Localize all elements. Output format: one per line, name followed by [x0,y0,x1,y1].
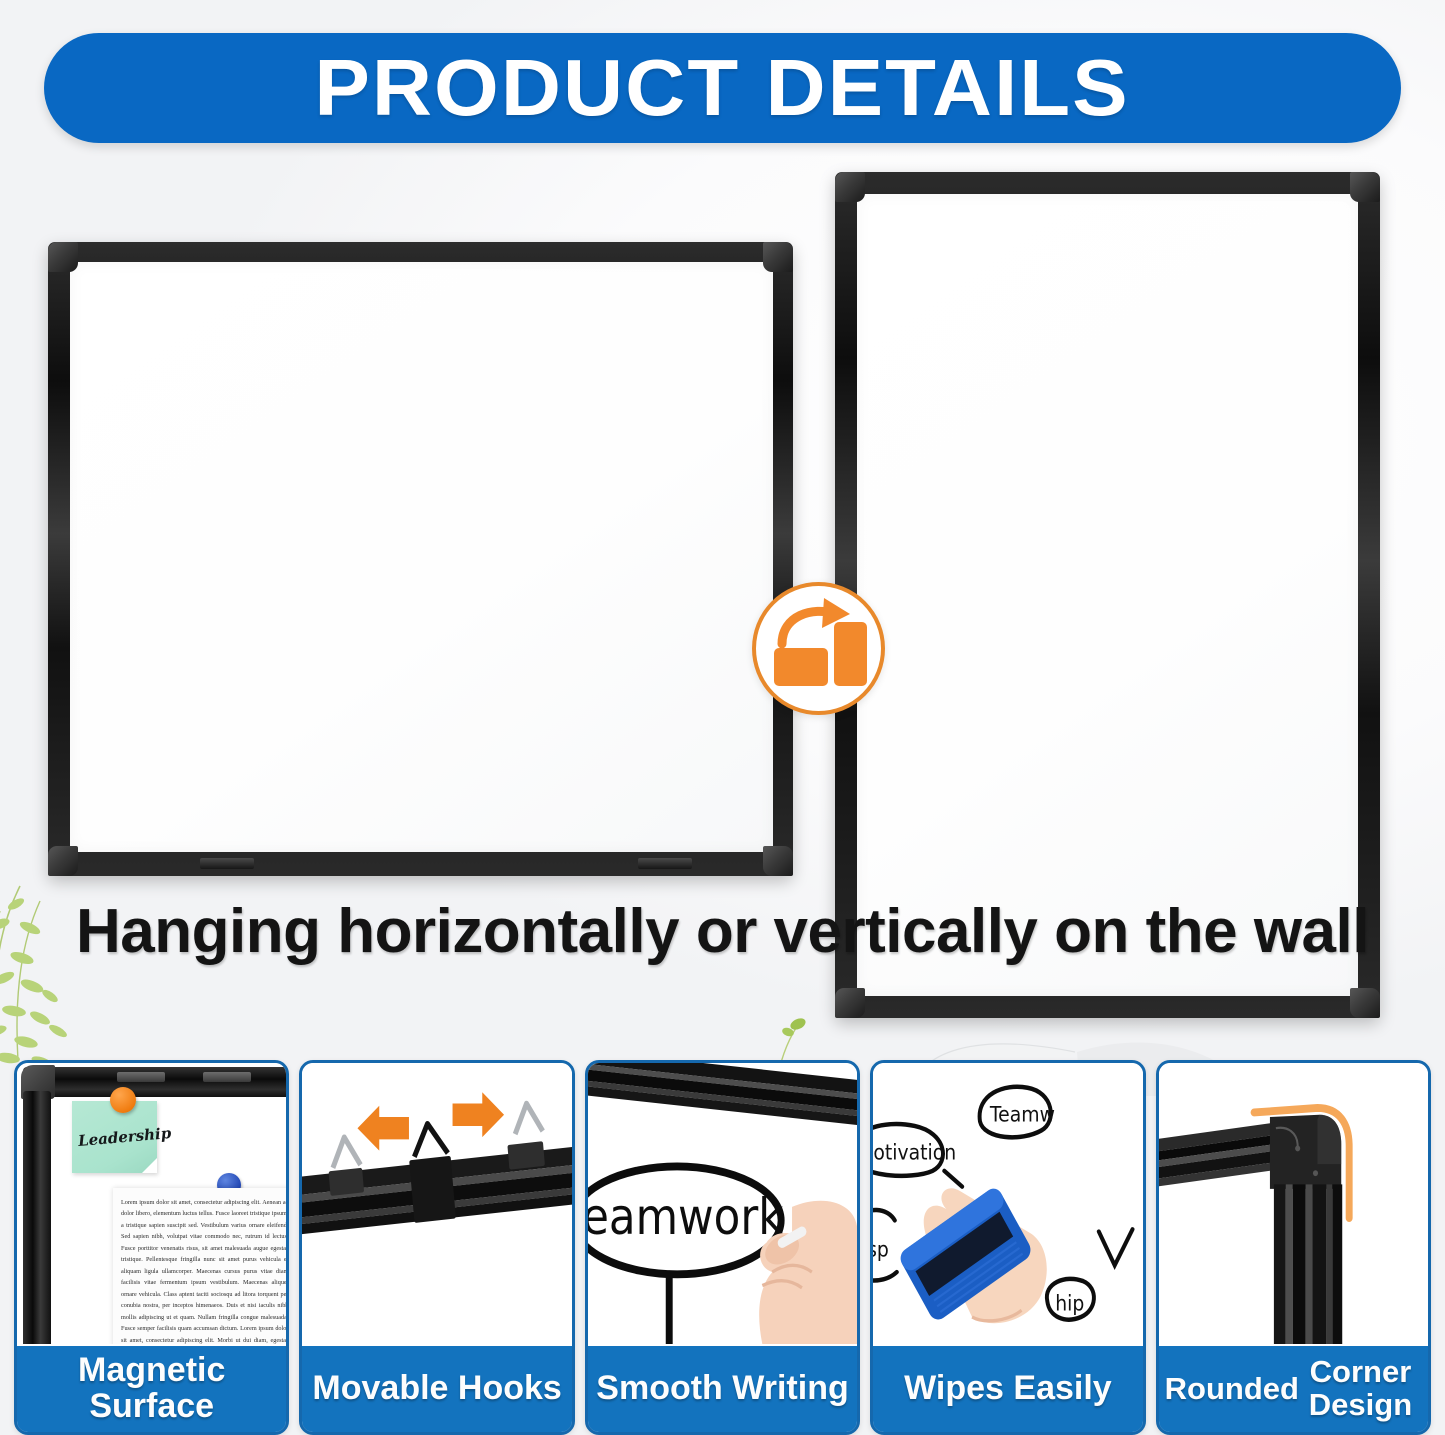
corner-piece-bottom-right [1350,988,1380,1018]
card-label-movable-hooks: Movable Hooks [302,1344,571,1432]
hero-tagline: Hanging horizontally or vertically on th… [0,896,1445,967]
hero-section [0,150,1445,890]
bubble-text-motivation: Motivation [873,1140,956,1165]
corner-piece-top-left [835,172,865,202]
corner-piece-bottom-left [835,988,865,1018]
paper-sheet: Lorem ipsum dolor sit amet, consectetur … [113,1188,286,1344]
header-banner: PRODUCT DETAILS [44,33,1401,143]
board-top-rail [23,1067,286,1097]
vertical-whiteboard [835,172,1380,1018]
arrow-right-icon [453,1092,505,1137]
hand-with-eraser [897,1185,1047,1324]
card-photo-wipes-easily: Teamw Motivation nsp hip [873,1063,1142,1344]
card-photo-smooth-writing: eamwork [588,1063,857,1344]
board-writing-surface [70,262,773,852]
corner-piece-top-right [763,242,793,272]
bubble-text-teamwork: Teamw [989,1101,1055,1126]
feature-card-wipes-easily[interactable]: Teamw Motivation nsp hip [870,1060,1145,1435]
paper-body-text: Lorem ipsum dolor sit amet, consectetur … [121,1197,286,1344]
arrow-left-icon [358,1106,410,1151]
page-title: PRODUCT DETAILS [315,48,1130,128]
bubble-text-leadership: hip [1055,1290,1084,1315]
card-label-wipes-easily: Wipes Easily [873,1344,1142,1432]
board-writing-surface [857,194,1358,996]
movable-hooks-illustration [302,1063,571,1344]
sticky-note-label: Leadership [77,1124,171,1150]
hook-nub [117,1072,165,1082]
rotate-orientation-icon [752,582,885,715]
hook-nub [638,858,692,869]
smooth-writing-illustration: eamwork [588,1063,857,1344]
hook-nub [200,858,254,869]
board-left-rail [23,1091,51,1344]
horizontal-whiteboard [48,242,793,876]
hook-nub [203,1072,251,1082]
banner-pill: PRODUCT DETAILS [44,33,1401,143]
feature-card-smooth-writing[interactable]: eamwork Smooth Writing [585,1060,860,1435]
card-label-magnetic-surface: Magnetic Surface [17,1344,286,1432]
corner-piece-top-right [1350,172,1380,202]
card-photo-movable-hooks [302,1063,571,1344]
corner-piece-bottom-right [763,846,793,876]
bubble-text-inspiration: nsp [873,1236,889,1261]
card-photo-rounded-corner [1159,1063,1428,1344]
card-label-rounded-corner: Rounded Corner Design [1159,1344,1428,1432]
rounded-corner-illustration [1159,1063,1428,1344]
card-label-line: Corner Design [1299,1356,1422,1421]
card-photo-magnetic-surface: Leadership Lorem ipsum dolor sit amet, c… [17,1063,286,1344]
corner-piece-bottom-left [48,846,78,876]
feature-card-magnetic-surface[interactable]: Leadership Lorem ipsum dolor sit amet, c… [14,1060,289,1435]
wipes-easily-illustration: Teamw Motivation nsp hip [873,1063,1142,1344]
feature-card-movable-hooks[interactable]: Movable Hooks [299,1060,574,1435]
card-label-line: Rounded [1165,1373,1299,1406]
whiteboard-drawing-text: eamwork [588,1188,783,1245]
orange-magnet [110,1087,136,1113]
feature-card-rounded-corner[interactable]: Rounded Corner Design [1156,1060,1431,1435]
feature-card-row: Leadership Lorem ipsum dolor sit amet, c… [0,1060,1445,1435]
sticky-note: Leadership [72,1101,157,1173]
card-label-smooth-writing: Smooth Writing [588,1344,857,1432]
corner-piece-top-left [48,242,78,272]
